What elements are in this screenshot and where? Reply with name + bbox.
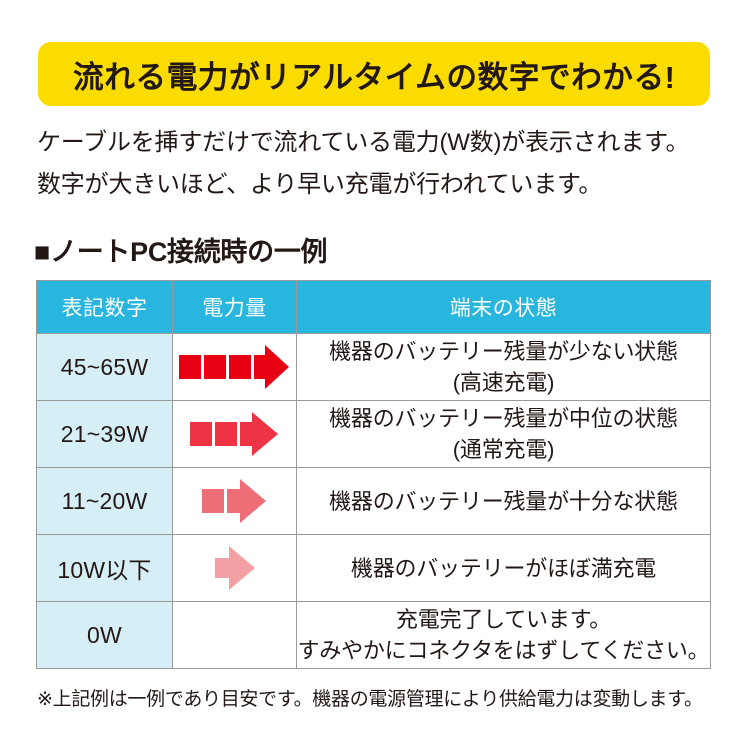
state-line-1: 機器のバッテリー残量が中位の状態 — [297, 403, 710, 434]
watt-value: 11~20W — [37, 468, 173, 535]
headline-text: 流れる電力がリアルタイムの数字でわかる! — [73, 52, 675, 97]
table-row: 0W 充電完了しています。 すみやかにコネクタをはずしてください。 — [37, 602, 711, 669]
state-description: 機器のバッテリー残量が中位の状態 (通常充電) — [297, 401, 711, 468]
lead-line-2: 数字が大きいほど、より早い充電が行われています。 — [37, 164, 717, 206]
state-line-1: 機器のバッテリーがほぼ満充電 — [297, 553, 710, 584]
power-level-table: 表記数字 電力量 端末の状態 45~65W — [36, 280, 711, 669]
state-description: 機器のバッテリー残量が十分な状態 — [297, 468, 711, 535]
state-line-1: 機器のバッテリー残量が少ない状態 — [297, 336, 710, 367]
power-meter-cell — [173, 334, 297, 401]
power-meter-cell — [173, 468, 297, 535]
meter-graphic-arrow-only — [173, 535, 296, 601]
state-description: 充電完了しています。 すみやかにコネクタをはずしてください。 — [297, 602, 711, 669]
state-line-1: 充電完了しています。 — [297, 604, 710, 635]
state-description: 機器のバッテリーがほぼ満充電 — [297, 535, 711, 602]
lead-paragraph: ケーブルを挿すだけで流れている電力(W数)が表示されます。 数字が大きいほど、よ… — [37, 122, 717, 206]
table-header-row: 表記数字 電力量 端末の状態 — [37, 281, 711, 334]
meter-graphic-3-blocks — [173, 334, 296, 400]
power-meter-cell-empty — [173, 602, 297, 669]
state-line-2: (高速充電) — [297, 367, 710, 398]
meter-graphic-1-block — [173, 468, 296, 534]
section-heading: ■ノートPC接続時の一例 — [34, 230, 327, 269]
table-row: 11~20W 機器のバッテリー残量が十分な状態 — [37, 468, 711, 535]
table-body: 45~65W 機器のバッテリー残量が少ない状態 (高速充電) — [37, 334, 711, 669]
watt-value: 21~39W — [37, 401, 173, 468]
column-header-meter: 電力量 — [173, 281, 297, 334]
headline-banner: 流れる電力がリアルタイムの数字でわかる! — [38, 42, 710, 106]
infographic-page: 流れる電力がリアルタイムの数字でわかる! ケーブルを挿すだけで流れている電力(W… — [0, 0, 750, 750]
power-meter-cell — [173, 401, 297, 468]
table-row: 21~39W 機器のバッテリー残量が中位の状態 (通常充電) — [37, 401, 711, 468]
column-header-watt: 表記数字 — [37, 281, 173, 334]
table-row: 45~65W 機器のバッテリー残量が少ない状態 (高速充電) — [37, 334, 711, 401]
lead-line-1: ケーブルを挿すだけで流れている電力(W数)が表示されます。 — [37, 122, 717, 164]
power-meter-cell — [173, 535, 297, 602]
footnote: ※上記例は一例であり目安です。機器の電源管理により供給電力は変動します。 — [37, 684, 703, 711]
state-line-1: 機器のバッテリー残量が十分な状態 — [297, 486, 710, 517]
watt-value: 45~65W — [37, 334, 173, 401]
watt-value: 0W — [37, 602, 173, 669]
column-header-state: 端末の状態 — [297, 281, 711, 334]
state-line-2: (通常充電) — [297, 434, 710, 465]
state-description: 機器のバッテリー残量が少ない状態 (高速充電) — [297, 334, 711, 401]
table-row: 10W以下 機器のバッテリーがほぼ満充電 — [37, 535, 711, 602]
watt-value: 10W以下 — [37, 535, 173, 602]
state-line-2: すみやかにコネクタをはずしてください。 — [297, 635, 710, 666]
meter-graphic-2-blocks — [173, 401, 296, 467]
